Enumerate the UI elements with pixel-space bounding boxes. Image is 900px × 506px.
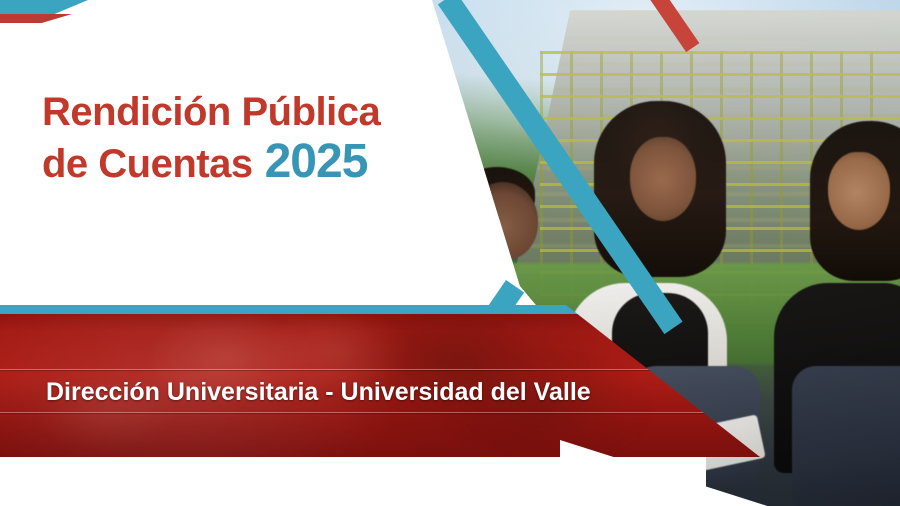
title-year: 2025 bbox=[265, 138, 368, 186]
title-line-2: de Cuentas bbox=[42, 144, 253, 184]
title-line-2-row: de Cuentas 2025 bbox=[42, 138, 442, 186]
page-title: Rendición Pública de Cuentas 2025 bbox=[42, 92, 442, 186]
corner-red-bar bbox=[0, 14, 72, 23]
banner-divider-top bbox=[0, 369, 760, 370]
corner-teal-bar bbox=[0, 0, 88, 14]
banner-title: Dirección Universitaria - Universidad de… bbox=[46, 378, 591, 407]
banner-divider-bottom bbox=[0, 412, 760, 413]
title-line-1: Rendición Pública bbox=[42, 92, 442, 132]
presentation-slide: Rendición Pública de Cuentas 2025 Direcc… bbox=[0, 0, 900, 506]
